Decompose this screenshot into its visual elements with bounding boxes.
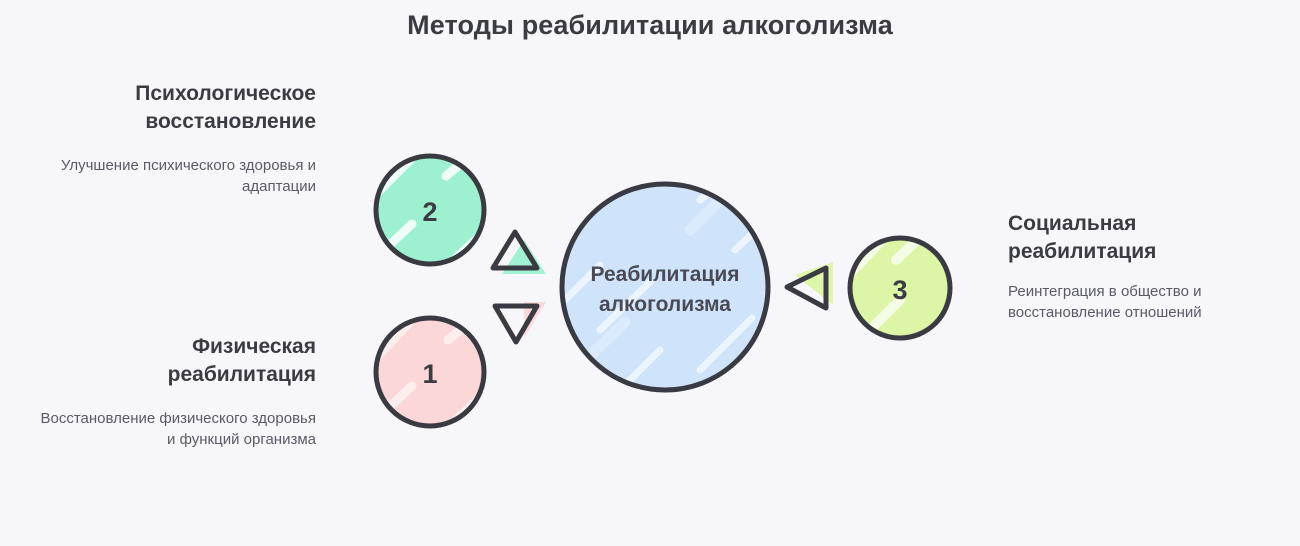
- center-node-label-line1: Реабилитация: [590, 263, 739, 286]
- node-3-number: 3: [892, 275, 907, 305]
- node-1-number: 1: [422, 359, 437, 389]
- diagram-canvas: Методы реабилитации алкоголизма Психолог…: [0, 0, 1300, 546]
- node-1[interactable]: 1: [372, 312, 490, 432]
- center-node-label-line2: алкоголизма: [599, 293, 731, 316]
- triangle-down-icon: [495, 302, 546, 342]
- node-2[interactable]: 2: [372, 148, 490, 270]
- triangle-up-icon: [493, 232, 546, 274]
- triangle-left-icon: [787, 262, 833, 308]
- node-2-number: 2: [422, 197, 437, 227]
- node-3[interactable]: 3: [846, 232, 956, 344]
- center-node[interactable]: Реабилитация алкоголизма: [558, 163, 775, 398]
- diagram-graphic: Реабилитация алкоголизма 2: [0, 0, 1300, 546]
